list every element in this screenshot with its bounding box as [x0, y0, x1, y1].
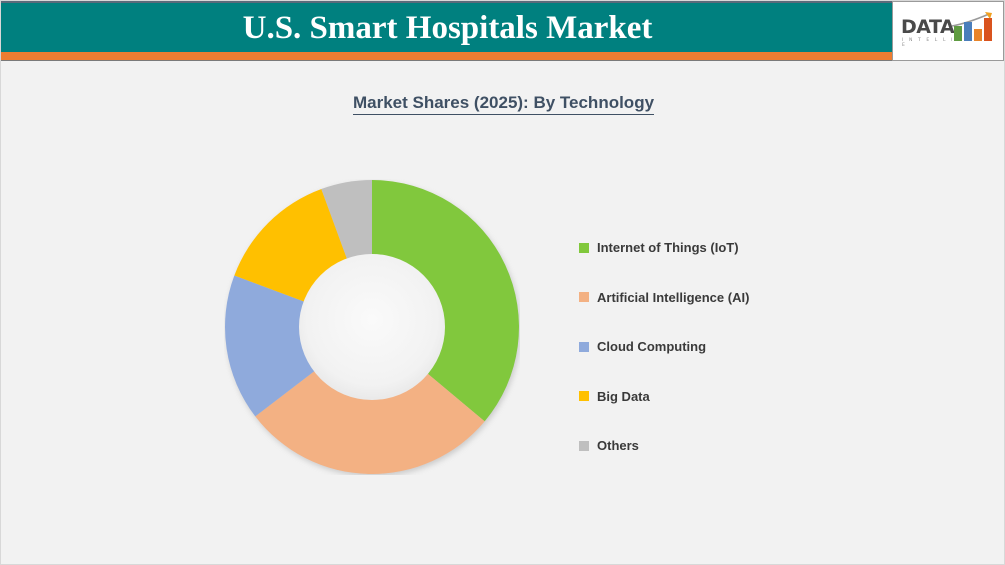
logo-bar-1 — [954, 26, 962, 41]
logo-bar-2 — [964, 22, 972, 41]
logo-bar-chart-icon — [954, 17, 996, 41]
brand-logo: DATA I N T E L L I G E N C E — [892, 1, 1004, 61]
chart-title-text: Market Shares (2025): By Technology — [353, 93, 654, 115]
legend-label: Artificial Intelligence (AI) — [597, 290, 749, 305]
legend-label: Internet of Things (IoT) — [597, 240, 739, 255]
chart-title: Market Shares (2025): By Technology — [1, 93, 1005, 113]
header-band: U.S. Smart Hospitals Market — [1, 1, 1005, 52]
legend-item-iot[interactable]: Internet of Things (IoT) — [579, 223, 809, 273]
page-title: U.S. Smart Hospitals Market — [1, 3, 894, 54]
legend-swatch-icon — [579, 342, 589, 352]
legend-swatch-icon — [579, 441, 589, 451]
legend-label: Big Data — [597, 389, 650, 404]
donut-chart — [224, 179, 520, 475]
legend-item-others[interactable]: Others — [579, 421, 809, 471]
legend-item-big-data[interactable]: Big Data — [579, 372, 809, 422]
logo-bar-3 — [974, 29, 982, 41]
chart-legend: Internet of Things (IoT) Artificial Inte… — [579, 223, 809, 471]
header-accent-stripe — [1, 52, 1005, 61]
slide-root: U.S. Smart Hospitals Market DATA I N T E… — [0, 0, 1005, 565]
donut-chart-svg — [224, 179, 520, 475]
legend-label: Others — [597, 438, 639, 453]
legend-item-ai[interactable]: Artificial Intelligence (AI) — [579, 273, 809, 323]
legend-swatch-icon — [579, 243, 589, 253]
legend-swatch-icon — [579, 292, 589, 302]
logo-inner: DATA I N T E L L I G E N C E — [901, 10, 997, 52]
logo-wordmark: DATA — [901, 16, 954, 38]
legend-swatch-icon — [579, 391, 589, 401]
logo-bar-4 — [984, 18, 992, 41]
donut-hole — [299, 254, 445, 400]
legend-item-cloud-computing[interactable]: Cloud Computing — [579, 322, 809, 372]
legend-label: Cloud Computing — [597, 339, 706, 354]
